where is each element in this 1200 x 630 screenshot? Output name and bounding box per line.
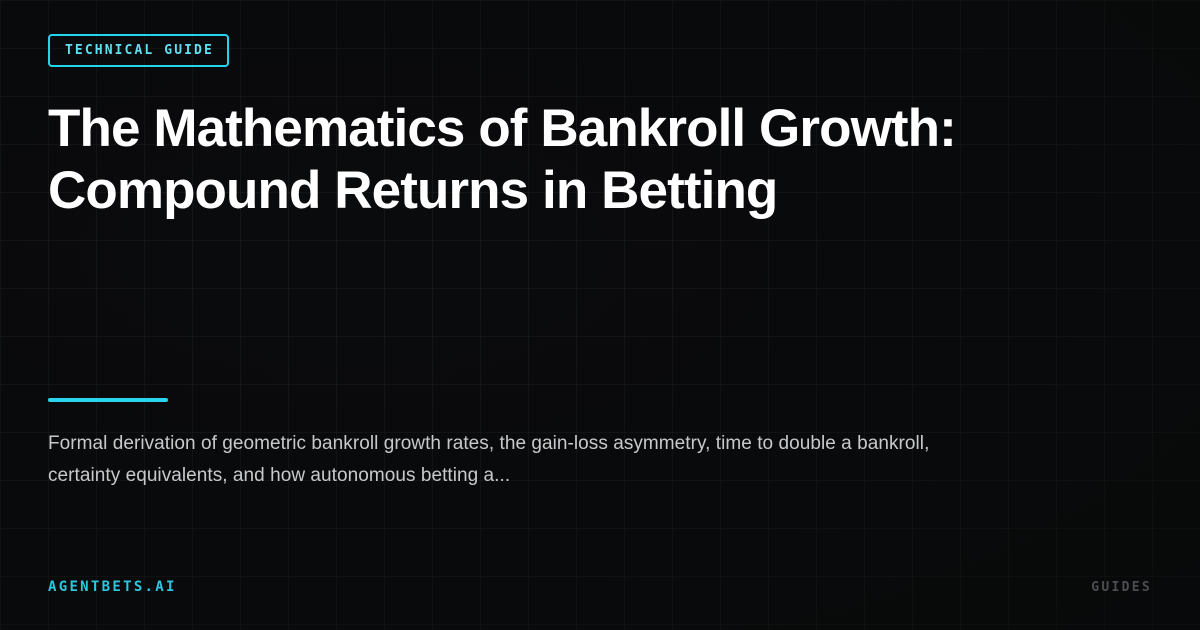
page-title: The Mathematics of Bankroll Growth: Comp… <box>48 98 1058 222</box>
card-footer: AGENTBETS.AI GUIDES <box>48 580 1152 594</box>
page-description-line-2: certainty equivalents, and how autonomou… <box>48 460 1148 492</box>
page-description-line-1: Formal derivation of geometric bankroll … <box>48 428 1148 460</box>
layout-spacer <box>48 222 1152 398</box>
accent-rule <box>48 398 168 402</box>
footer-category-label: GUIDES <box>1091 581 1152 594</box>
brand-wordmark: AGENTBETS.AI <box>48 580 177 594</box>
page-description: Formal derivation of geometric bankroll … <box>48 428 1148 492</box>
category-badge: TECHNICAL GUIDE <box>48 34 229 67</box>
share-card: TECHNICAL GUIDE The Mathematics of Bankr… <box>0 0 1200 630</box>
page-title-line-2: Compound Returns in Betting <box>48 160 1058 222</box>
page-title-line-1: The Mathematics of Bankroll Growth: <box>48 98 1058 160</box>
